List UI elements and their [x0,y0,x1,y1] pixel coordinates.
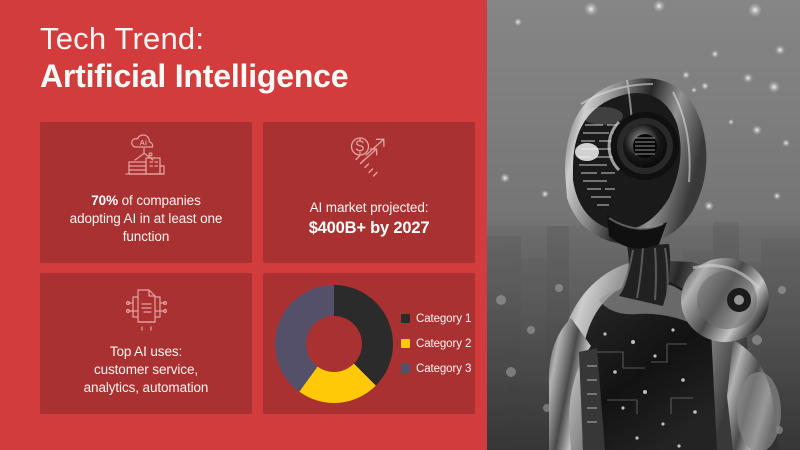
stat-card-uses-line2: customer service, [84,361,209,379]
stat-card-market-text: AI market projected: $400B+ by 2027 [305,183,434,255]
stat-card-uses-line1: Top AI uses: [84,343,209,361]
title-line-1: Tech Trend: [40,22,470,57]
stat-suffix: of companies [118,193,201,208]
legend-label: Category 2 [416,338,471,350]
stat-card-uses-line3: analytics, automation [84,379,209,397]
stat-card-adoption-text: 70% of companies adopting AI in at least… [66,183,227,255]
legend-item-2: Category 2 [401,338,471,350]
stat-value-70: 70% [91,193,118,208]
stat-card-adoption-line2: adopting AI in at least one [70,210,223,228]
legend-swatch-icon [401,364,410,373]
stat-card-adoption: Ai 70% of companie [40,122,252,263]
dollar-growth-arrow-icon [343,133,395,183]
donut-chart-card: Category 1Category 2Category 3 [263,273,475,414]
humanoid-robot-grayscale-image [487,0,800,450]
ai-document-circuit-icon [120,284,172,334]
donut-chart [275,285,393,403]
legend-item-1: Category 1 [401,313,471,325]
left-content-panel: Tech Trend: Artificial Intelligence Ai [0,0,487,450]
legend-swatch-icon [401,314,410,323]
stat-card-adoption-line3: function [70,228,223,246]
stat-card-market: AI market projected: $400B+ by 2027 [263,122,475,263]
title-line-2: Artificial Intelligence [40,59,470,95]
stat-card-uses: Top AI uses: customer service, analytics… [40,273,252,414]
stat-card-uses-text: Top AI uses: customer service, analytics… [80,334,213,406]
page-title: Tech Trend: Artificial Intelligence [40,22,470,95]
stat-card-grid: Ai 70% of companie [40,122,475,414]
legend-label: Category 1 [416,313,471,325]
legend-item-3: Category 3 [401,363,471,375]
legend-label: Category 3 [416,363,471,375]
legend-swatch-icon [401,339,410,348]
svg-text:Ai: Ai [140,138,148,147]
robot-illustration [487,0,800,450]
chart-legend: Category 1Category 2Category 3 [393,313,471,375]
stat-card-market-line1: AI market projected: [309,199,430,217]
slide-root: Tech Trend: Artificial Intelligence Ai [0,0,800,450]
donut-center-hole [306,316,362,372]
stat-card-market-line2: $400B+ by 2027 [309,217,430,239]
ai-factory-icon: Ai [120,133,172,183]
